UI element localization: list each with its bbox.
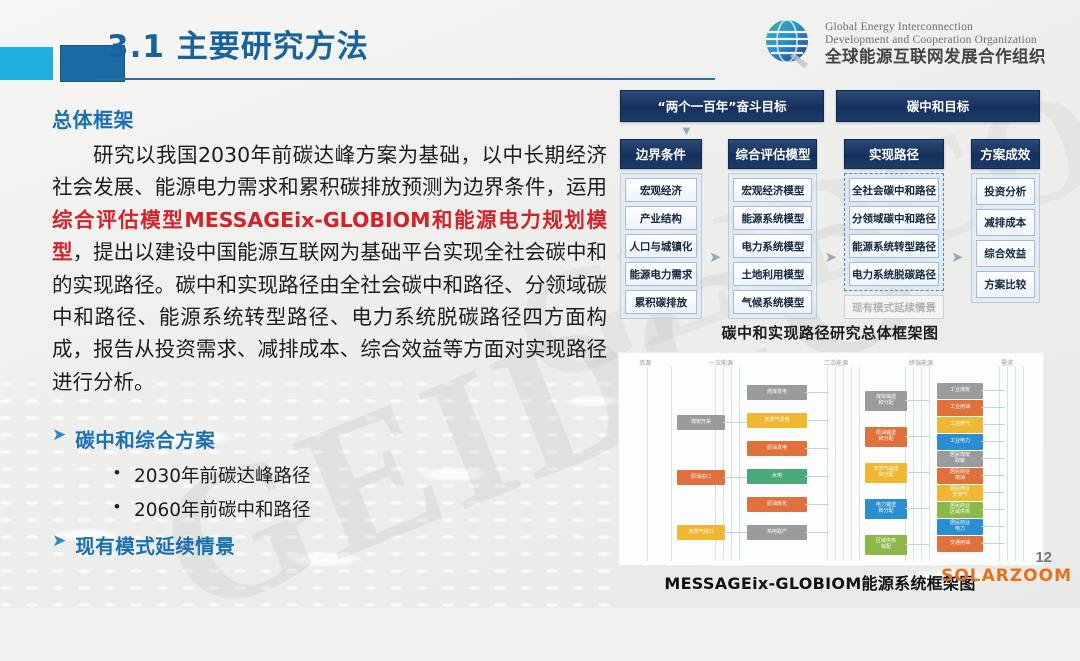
energy-node: 居民商业 区域供热 bbox=[937, 502, 983, 518]
energy-node: 原油输送 和分配 bbox=[865, 427, 907, 447]
framework-cell: 全社会碳中和路径 bbox=[849, 178, 939, 202]
column-items: 全社会碳中和路径 分领域碳中和路径 能源系统转型路径 电力系统脱碳路径 bbox=[844, 173, 944, 291]
framework-cell-ghost: 现有模式延续情景 bbox=[844, 295, 944, 319]
flow-connector bbox=[981, 441, 1005, 442]
framework-cell: 能源系统转型路径 bbox=[849, 234, 939, 258]
paragraph-text: ，提出以建设中国能源互联网为基础平台实现全社会碳中和的实现路径。碳中和实现路径由… bbox=[52, 240, 607, 394]
flow-line bbox=[835, 367, 836, 561]
column-items: 宏观经济 产业结构 人口与城镇化 能源电力需求 累积碳排放 bbox=[620, 173, 702, 319]
logo-english-line-2: Development and Cooperation Organization bbox=[825, 34, 1046, 47]
column-header: 边界条件 bbox=[620, 139, 702, 169]
framework-cell: 产业结构 bbox=[625, 206, 697, 230]
framework-cell: 减排成本 bbox=[976, 209, 1035, 236]
energy-node: 工业煤炭 bbox=[937, 383, 983, 399]
energy-node: 燃煤发电 bbox=[747, 385, 807, 400]
energy-node: 天然气输送 和分配 bbox=[865, 463, 907, 483]
framework-columns: 边界条件 宏观经济 产业结构 人口与城镇化 能源电力需求 累积碳排放 ➤ 综合评… bbox=[620, 139, 1040, 319]
bullet-item: ➤碳中和综合方案 bbox=[52, 424, 472, 453]
bullet-item: ➤现有模式延续情景 bbox=[52, 530, 472, 559]
flow-connector bbox=[805, 532, 829, 533]
energy-node: 居民煤炭 取暖 bbox=[937, 451, 983, 467]
framework-cell: 宏观经济模型 bbox=[733, 178, 812, 202]
flow-line bbox=[999, 367, 1000, 561]
flow-line bbox=[929, 367, 930, 561]
framework-cell: 电力系统脱碳路径 bbox=[849, 262, 939, 286]
flow-connector bbox=[981, 492, 1005, 493]
source-watermark: SOLARZOOM bbox=[941, 566, 1072, 586]
framework-cell: 电力系统模型 bbox=[733, 234, 812, 258]
framework-cell: 能源系统模型 bbox=[733, 206, 812, 230]
bullet-label: 现有模式延续情景 bbox=[75, 530, 235, 559]
paragraph-text: 研究以我国2030年前碳达峰方案为基础，以中长期经济社会发展、能源电力需求和累积… bbox=[52, 143, 607, 199]
page-number: 12 bbox=[1035, 549, 1052, 566]
energy-node: 热电联产 bbox=[747, 525, 807, 540]
flow-line bbox=[671, 367, 672, 561]
flow-connector bbox=[805, 392, 829, 393]
framework-cell: 分领域碳中和路径 bbox=[849, 206, 939, 230]
logo-chinese-name: 全球能源互联网发展合作组织 bbox=[825, 48, 1046, 66]
energy-node: 水电 bbox=[747, 469, 807, 484]
column-header: 实现路径 bbox=[844, 139, 944, 169]
title-accent-cyan bbox=[0, 47, 53, 80]
flow-line bbox=[647, 367, 648, 561]
sub-bullet-item: •2030年前碳达峰路径 bbox=[114, 462, 472, 488]
energy-node: 工业用油 bbox=[937, 400, 983, 416]
title-underline bbox=[95, 78, 715, 80]
energy-node: 电力输送 和分配 bbox=[865, 499, 907, 519]
organization-logo: Global Energy Interconnection Developmen… bbox=[760, 8, 1072, 80]
flow-connector bbox=[981, 407, 1005, 408]
flow-line bbox=[921, 367, 922, 561]
arrow-bullet-icon: ➤ bbox=[52, 424, 66, 445]
framework-cell: 气候系统模型 bbox=[733, 290, 812, 314]
flow-connector bbox=[805, 476, 829, 477]
energy-column-label: 资源 bbox=[639, 358, 651, 367]
flow-connector bbox=[981, 543, 1005, 544]
globe-icon bbox=[760, 16, 816, 72]
goal-box: 碳中和目标 bbox=[836, 90, 1040, 122]
flow-line bbox=[851, 367, 852, 561]
framework-diagram: “两个一百年”奋斗目标 碳中和目标 ▼ 边界条件 宏观经济 产业结构 人口与城镇… bbox=[620, 90, 1040, 305]
framework-cell: 人口与城镇化 bbox=[625, 234, 697, 258]
left-content-column: 总体框架 研究以我国2030年前碳达峰方案为基础，以中长期经济社会发展、能源电力… bbox=[52, 104, 607, 398]
flow-line bbox=[1023, 367, 1024, 561]
flow-line bbox=[859, 367, 860, 561]
right-arrow-icon: ➤ bbox=[950, 248, 965, 266]
sub-bullet-item: •2060年前碳中和路径 bbox=[114, 496, 472, 522]
flow-connector bbox=[723, 477, 747, 478]
framework-cell: 投资分析 bbox=[976, 178, 1035, 205]
right-arrow-icon: ➤ bbox=[823, 248, 838, 266]
flow-connector bbox=[723, 532, 747, 533]
energy-node: 交通用油 bbox=[937, 536, 983, 552]
flow-connector bbox=[981, 475, 1005, 476]
right-arrow-icon: ➤ bbox=[708, 248, 723, 266]
framework-caption: 碳中和实现路径研究总体框架图 bbox=[620, 322, 1040, 343]
energy-node: 原油进口 bbox=[677, 470, 725, 485]
framework-column-boundary: 边界条件 宏观经济 产业结构 人口与城镇化 能源电力需求 累积碳排放 bbox=[620, 139, 702, 319]
framework-cell: 土地利用模型 bbox=[733, 262, 812, 286]
logo-english-line-1: Global Energy Interconnection bbox=[825, 21, 1046, 34]
energy-node: 原油炼化 bbox=[747, 497, 807, 512]
bullet-list: ➤碳中和综合方案•2030年前碳达峰路径•2060年前碳中和路径➤现有模式延续情… bbox=[52, 424, 472, 568]
energy-node: 工业燃气 bbox=[937, 417, 983, 433]
flow-connector bbox=[905, 472, 929, 473]
goal-box: “两个一百年”奋斗目标 bbox=[620, 90, 824, 122]
flow-line bbox=[1015, 367, 1016, 561]
framework-cell: 宏观经济 bbox=[625, 178, 697, 202]
sub-bullet-label: 2030年前碳达峰路径 bbox=[134, 462, 311, 488]
energy-node: 居民商业 天然气 bbox=[937, 485, 983, 501]
framework-column-pathway: 实现路径 全社会碳中和路径 分领域碳中和路径 能源系统转型路径 电力系统脱碳路径… bbox=[844, 139, 944, 319]
energy-node: 区域供热 输配 bbox=[865, 535, 907, 555]
flow-connector bbox=[981, 390, 1005, 391]
framework-cell: 累积碳排放 bbox=[625, 290, 697, 314]
column-header: 方案成效 bbox=[971, 139, 1040, 169]
flow-connector bbox=[981, 424, 1005, 425]
energy-column-label: 一次能源 bbox=[709, 358, 733, 367]
flow-connector bbox=[805, 504, 829, 505]
body-paragraph: 研究以我国2030年前碳达峰方案为基础，以中长期经济社会发展、能源电力需求和累积… bbox=[52, 139, 607, 398]
framework-cell: 综合效益 bbox=[976, 240, 1035, 267]
framework-goal-row: “两个一百年”奋斗目标 碳中和目标 bbox=[620, 90, 1040, 122]
flow-connector bbox=[905, 436, 929, 437]
flow-connector bbox=[981, 526, 1005, 527]
flow-connector bbox=[981, 458, 1005, 459]
flow-connector bbox=[723, 422, 747, 423]
flow-line bbox=[913, 367, 914, 561]
column-header: 综合评估模型 bbox=[728, 139, 817, 169]
framework-column-model: 综合评估模型 宏观经济模型 能源系统模型 电力系统模型 土地利用模型 气候系统模… bbox=[728, 139, 817, 319]
dot-bullet-icon: • bbox=[114, 462, 120, 485]
flow-connector bbox=[981, 509, 1005, 510]
section-heading: 总体框架 bbox=[52, 104, 607, 133]
energy-node: 工业电力 bbox=[937, 434, 983, 450]
column-items: 宏观经济模型 能源系统模型 电力系统模型 土地利用模型 气候系统模型 bbox=[728, 173, 817, 319]
energy-node: 煤炭开采 bbox=[677, 415, 725, 430]
flow-connector bbox=[905, 508, 929, 509]
energy-node: 天然气进口 bbox=[677, 525, 725, 540]
energy-node: 原油发电 bbox=[747, 441, 807, 456]
framework-cell: 能源电力需求 bbox=[625, 262, 697, 286]
flow-line bbox=[1007, 367, 1008, 561]
bullet-label: 碳中和综合方案 bbox=[75, 424, 215, 453]
flow-connector bbox=[805, 448, 829, 449]
energy-column-label: 二次能源 bbox=[824, 358, 848, 367]
flow-connector bbox=[905, 400, 929, 401]
energy-node: 居民商业 电力 bbox=[937, 519, 983, 535]
column-items: 投资分析 减排成本 综合效益 方案比较 bbox=[971, 173, 1040, 303]
framework-column-outcome: 方案成效 投资分析 减排成本 综合效益 方案比较 bbox=[971, 139, 1040, 303]
energy-column-label: 需求 bbox=[1001, 358, 1013, 367]
flow-connector bbox=[905, 544, 929, 545]
sub-bullet-label: 2060年前碳中和路径 bbox=[134, 496, 311, 522]
energy-node: 煤炭输送 和分配 bbox=[865, 391, 907, 411]
down-arrow-icon: ▼ bbox=[620, 125, 1080, 137]
energy-node: 居民商业 用油 bbox=[937, 468, 983, 484]
energy-node: 天然气发电 bbox=[747, 413, 807, 428]
dot-bullet-icon: • bbox=[114, 496, 120, 519]
flow-line bbox=[843, 367, 844, 561]
framework-cell: 方案比较 bbox=[976, 271, 1035, 298]
page-title: 3.1 主要研究方法 bbox=[107, 21, 369, 66]
energy-system-diagram: 资源一次能源二次能源终端能源需求煤炭开采原油进口天然气进口燃煤发电天然气发电原油… bbox=[618, 352, 1044, 566]
flow-connector bbox=[805, 420, 829, 421]
energy-column-label: 终端能源 bbox=[909, 358, 933, 367]
arrow-bullet-icon: ➤ bbox=[52, 530, 66, 551]
